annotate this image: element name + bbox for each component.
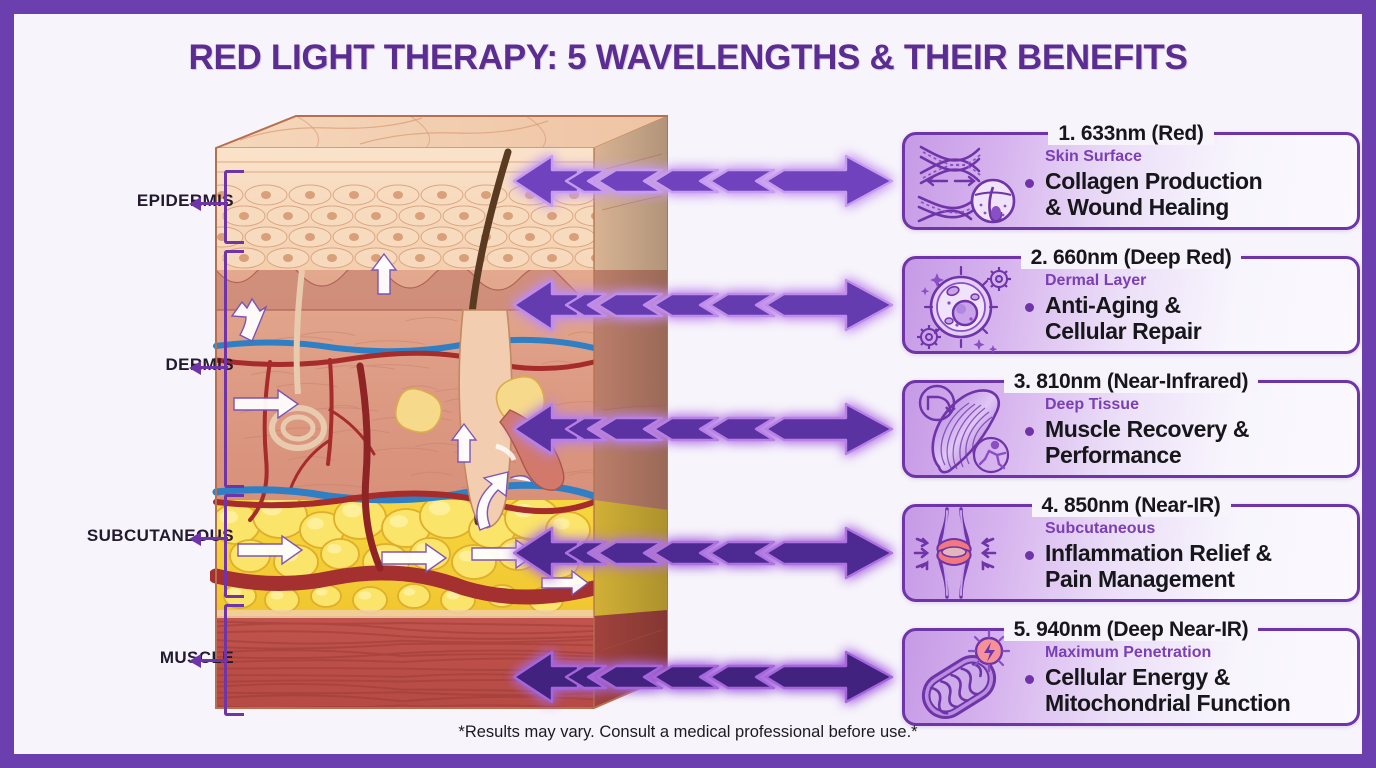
layer-bracket-epidermis [224, 170, 244, 244]
card-depth-label-940nm: Maximum Penetration [1019, 644, 1345, 662]
wavelength-card-810nm[interactable]: 3. 810nm (Near-Infrared)Deep TissueMuscl… [902, 380, 1360, 478]
card-benefit-633nm: Collagen Production& Wound Healing [1019, 168, 1345, 220]
card-benefit-line1: Inflammation Relief & [1045, 540, 1345, 566]
card-benefit-850nm: Inflammation Relief &Pain Management [1019, 540, 1345, 592]
card-depth-label-633nm: Skin Surface [1019, 148, 1345, 166]
wavelength-card-633nm[interactable]: 1. 633nm (Red)Skin SurfaceCollagen Produ… [902, 132, 1360, 230]
layer-label-muscle: MUSCLE [34, 648, 234, 668]
muscle-icon [913, 381, 1017, 477]
card-benefit-line2: Performance [1045, 442, 1345, 468]
collagen-fibers-icon [913, 133, 1017, 229]
wavelength-card-940nm[interactable]: 5. 940nm (Deep Near-IR)Maximum Penetrati… [902, 628, 1360, 726]
layer-bracket-dermis [224, 250, 244, 488]
layer-bracket-subcutaneous [224, 494, 244, 598]
mitochondria-icon [913, 629, 1017, 725]
cell-icon [913, 257, 1017, 353]
card-benefit-line2: Mitochondrial Function [1045, 690, 1345, 716]
card-inner: Deep TissueMuscle Recovery &Performance [905, 383, 1357, 475]
card-text: Maximum PenetrationCellular Energy &Mito… [1017, 638, 1345, 716]
card-inner: Skin SurfaceCollagen Production& Wound H… [905, 135, 1357, 227]
card-inner: Maximum PenetrationCellular Energy &Mito… [905, 631, 1357, 723]
poster-inner-canvas: RED LIGHT THERAPY: 5 WAVELENGTHS & THEIR… [14, 14, 1362, 754]
layer-label-dermis: DERMIS [34, 355, 234, 375]
layer-pointer-arrow-icon [200, 366, 228, 369]
card-depth-label-810nm: Deep Tissue [1019, 396, 1345, 414]
layer-pointer-arrow-icon [200, 537, 228, 540]
card-benefit-660nm: Anti-Aging &Cellular Repair [1019, 292, 1345, 344]
disclaimer-footer: *Results may vary. Consult a medical pro… [14, 723, 1362, 742]
card-benefit-line1: Cellular Energy & [1045, 664, 1345, 690]
wavelength-card-660nm[interactable]: 2. 660nm (Deep Red)Dermal LayerAnti-Agin… [902, 256, 1360, 354]
card-benefit-line1: Muscle Recovery & [1045, 416, 1345, 442]
card-benefit-line1: Collagen Production [1045, 168, 1345, 194]
wavelength-card-850nm[interactable]: 4. 850nm (Near-IR)SubcutaneousInflammati… [902, 504, 1360, 602]
skin-cross-section-diagram [210, 110, 668, 712]
card-benefit-810nm: Muscle Recovery &Performance [1019, 416, 1345, 468]
card-text: Skin SurfaceCollagen Production& Wound H… [1017, 142, 1345, 220]
infographic-poster: RED LIGHT THERAPY: 5 WAVELENGTHS & THEIR… [0, 0, 1376, 768]
card-benefit-940nm: Cellular Energy &Mitochondrial Function [1019, 664, 1345, 716]
skin-layer-label-group: EPIDERMISDERMISSUBCUTANEOUSMUSCLE [34, 14, 234, 754]
layer-label-epidermis: EPIDERMIS [34, 191, 234, 211]
card-inner: SubcutaneousInflammation Relief &Pain Ma… [905, 507, 1357, 599]
layer-label-subcutaneous: SUBCUTANEOUS [34, 526, 234, 546]
card-depth-label-850nm: Subcutaneous [1019, 520, 1345, 538]
card-depth-label-660nm: Dermal Layer [1019, 272, 1345, 290]
card-benefit-line2: Pain Management [1045, 566, 1345, 592]
card-benefit-line2: Cellular Repair [1045, 318, 1345, 344]
layer-pointer-arrow-icon [200, 202, 228, 205]
joint-inflammation-icon [913, 505, 1017, 601]
card-benefit-line1: Anti-Aging & [1045, 292, 1345, 318]
card-benefit-line2: & Wound Healing [1045, 194, 1345, 220]
card-text: Dermal LayerAnti-Aging &Cellular Repair [1017, 266, 1345, 344]
card-inner: Dermal LayerAnti-Aging &Cellular Repair [905, 259, 1357, 351]
layer-pointer-arrow-icon [200, 659, 228, 662]
card-text: Deep TissueMuscle Recovery &Performance [1017, 390, 1345, 468]
card-text: SubcutaneousInflammation Relief &Pain Ma… [1017, 514, 1345, 592]
